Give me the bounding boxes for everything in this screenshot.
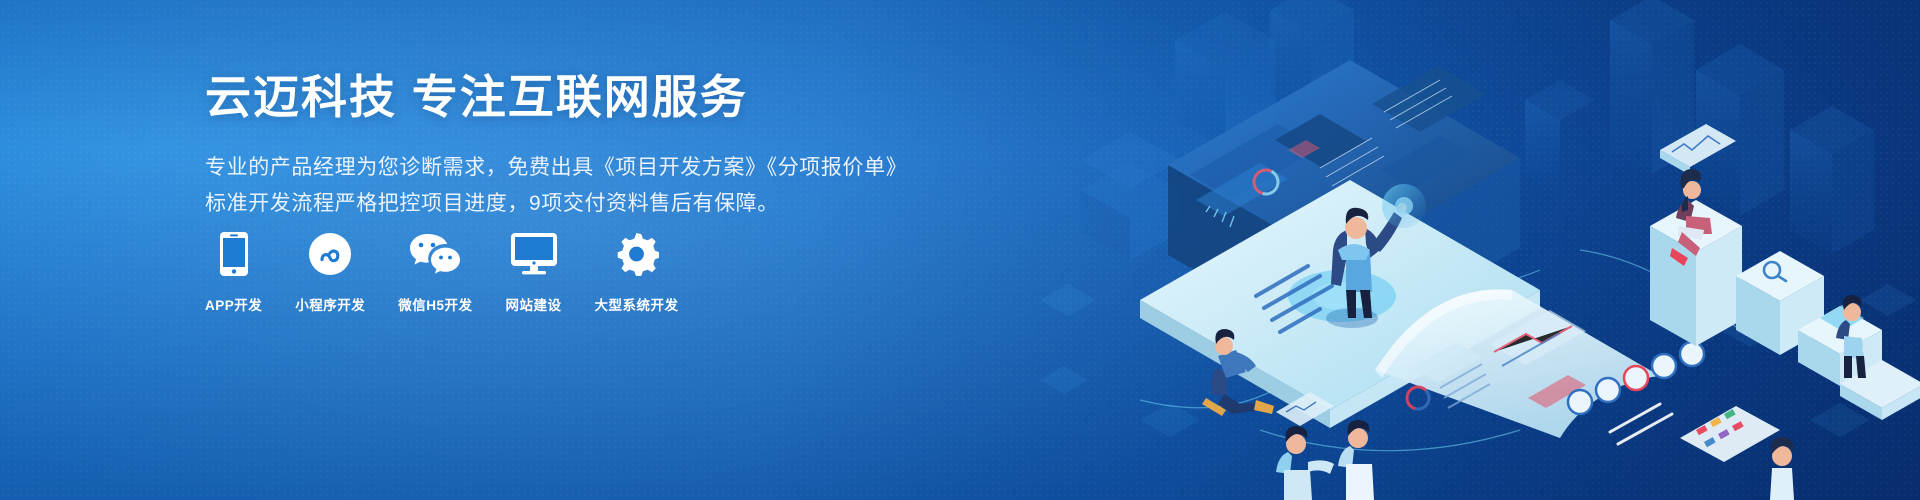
service-label: APP开发 [205, 294, 262, 314]
service-item-website[interactable]: 网站建设 [506, 228, 562, 314]
mobile-phone-icon [219, 228, 249, 280]
service-label: 网站建设 [506, 294, 562, 314]
banner-copy: 云迈科技 专注互联网服务 专业的产品经理为您诊断需求，免费出具《项目开发方案》《… [205, 72, 925, 222]
service-label: 小程序开发 [295, 294, 365, 314]
touch-glow [1382, 184, 1426, 228]
service-list: APP开发 小程序开发 微信 [205, 228, 679, 314]
service-item-wechat-h5[interactable]: 微信H5开发 [398, 228, 472, 314]
page-title: 云迈科技 专注互联网服务 [205, 72, 925, 124]
hero-banner: 云迈科技 专注互联网服务 专业的产品经理为您诊断需求，免费出具《项目开发方案》《… [0, 0, 1920, 500]
service-label: 微信H5开发 [398, 294, 472, 314]
monitor-icon [510, 228, 558, 280]
subtitle-line-1: 专业的产品经理为您诊断需求，免费出具《项目开发方案》《分项报价单》 [205, 150, 925, 186]
mini-program-icon [308, 228, 352, 280]
service-label: 大型系统开发 [595, 294, 679, 314]
isometric-illustration [1020, 0, 1920, 500]
gear-icon [615, 228, 659, 280]
subtitle-line-2: 标准开发流程严格把控项目进度，9项交付资料售后有保障。 [205, 186, 925, 222]
data-card-bottom [1680, 406, 1780, 462]
person-pair-bottom [1276, 420, 1374, 500]
service-item-mini-program[interactable]: 小程序开发 [295, 228, 365, 314]
wechat-icon [409, 228, 461, 280]
person-bottom-right [1770, 437, 1794, 500]
service-item-large-system[interactable]: 大型系统开发 [595, 228, 679, 314]
service-item-app[interactable]: APP开发 [205, 228, 262, 314]
